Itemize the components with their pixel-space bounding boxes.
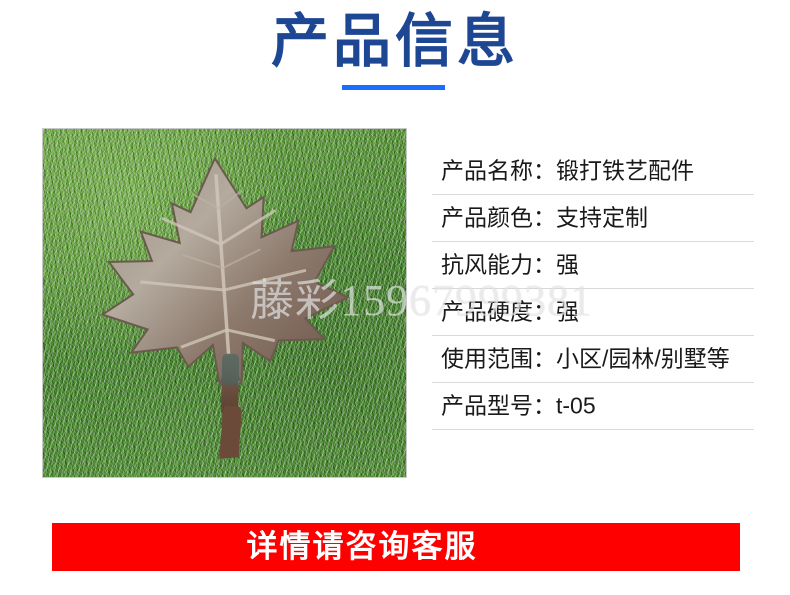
spec-value: 强 bbox=[556, 251, 579, 277]
spec-row-text: 产品名称：锻打铁艺配件 bbox=[441, 157, 694, 183]
product-spec-table: 产品名称：锻打铁艺配件 产品颜色：支持定制 抗风能力：强 产品硬度：强 使用范围… bbox=[432, 148, 754, 430]
spec-label: 产品名称： bbox=[441, 157, 556, 183]
table-row: 产品颜色：支持定制 bbox=[432, 195, 754, 242]
spec-value: 强 bbox=[556, 298, 579, 324]
spec-value: 小区/园林/别墅等 bbox=[556, 345, 730, 371]
iron-maple-leaf-icon bbox=[79, 139, 370, 467]
table-row: 使用范围：小区/园林/别墅等 bbox=[432, 336, 754, 383]
table-row: 产品型号：t-05 bbox=[432, 383, 754, 430]
table-row: 抗风能力：强 bbox=[432, 242, 754, 289]
spec-label: 产品型号： bbox=[441, 392, 556, 418]
spec-row-text: 抗风能力：强 bbox=[441, 251, 579, 277]
spec-label: 抗风能力： bbox=[441, 251, 556, 277]
table-row: 产品名称：锻打铁艺配件 bbox=[432, 148, 754, 195]
table-row: 产品硬度：强 bbox=[432, 289, 754, 336]
product-photo[interactable] bbox=[42, 128, 407, 478]
spec-value: t-05 bbox=[556, 392, 596, 418]
title-underline-accent bbox=[342, 85, 445, 90]
spec-label: 产品硬度： bbox=[441, 298, 556, 324]
spec-label: 产品颜色： bbox=[441, 204, 556, 230]
page-header: 产品信息 bbox=[0, 0, 790, 110]
spec-row-text: 产品型号：t-05 bbox=[441, 392, 596, 418]
spec-row-text: 使用范围：小区/园林/别墅等 bbox=[441, 345, 730, 371]
contact-service-label: 详情请咨询客服 bbox=[52, 523, 672, 571]
product-info-page: 产品信息 bbox=[0, 0, 790, 595]
spec-value: 支持定制 bbox=[556, 204, 648, 230]
page-title: 产品信息 bbox=[0, 7, 790, 77]
spec-row-text: 产品硬度：强 bbox=[441, 298, 579, 324]
spec-row-text: 产品颜色：支持定制 bbox=[441, 204, 648, 230]
spec-value: 锻打铁艺配件 bbox=[556, 157, 694, 183]
contact-service-banner[interactable]: 详情请咨询客服 bbox=[52, 523, 740, 571]
spec-label: 使用范围： bbox=[441, 345, 556, 371]
